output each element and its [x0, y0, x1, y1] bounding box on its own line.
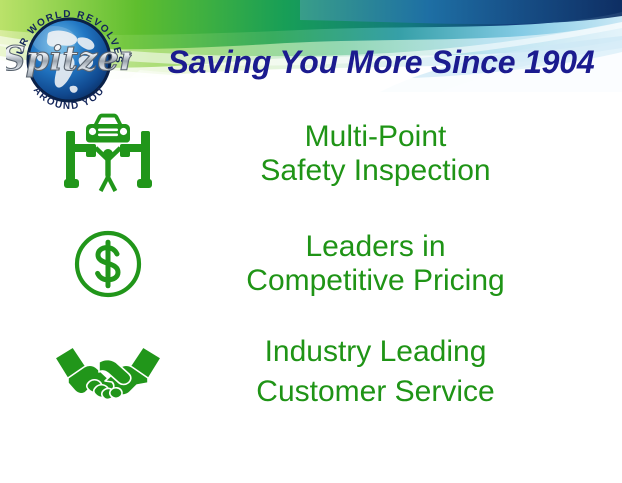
feature-line-2: Competitive Pricing [215, 264, 536, 298]
feature-text-safety-inspection: Multi-Point Safety Inspection [215, 120, 622, 188]
page-title: Saving You More Since 1904 [148, 40, 614, 84]
feature-line-1: Industry Leading [215, 332, 536, 372]
logo-wordmark: Spitzer [6, 39, 132, 79]
svg-text:Spitzer: Spitzer [6, 39, 132, 79]
spitzer-logo: OUR WORLD REVOLVES AROUND YOU Spitzer [6, 4, 132, 112]
dollar-circle-icon-wrapper [0, 229, 215, 299]
logo-graphic: OUR WORLD REVOLVES AROUND YOU Spitzer [6, 4, 132, 112]
slide-canvas: OUR WORLD REVOLVES AROUND YOU Spitzer Sa… [0, 0, 622, 483]
feature-text-competitive-pricing: Leaders in Competitive Pricing [215, 230, 622, 298]
dollar-circle-icon [71, 229, 145, 299]
car-lift-icon-wrapper [0, 113, 215, 195]
feature-line-2: Safety Inspection [215, 154, 536, 188]
feature-text-customer-service: Industry Leading Customer Service [215, 332, 622, 412]
feature-line-1: Leaders in [215, 230, 536, 264]
feature-line-2: Customer Service [215, 372, 536, 412]
handshake-icon [53, 342, 163, 402]
handshake-icon-wrapper [0, 342, 215, 402]
feature-row-competitive-pricing: Leaders in Competitive Pricing [0, 218, 622, 310]
feature-row-customer-service: Industry Leading Customer Service [0, 326, 622, 418]
car-lift-icon [64, 113, 152, 195]
feature-row-safety-inspection: Multi-Point Safety Inspection [0, 108, 622, 200]
feature-line-1: Multi-Point [215, 120, 536, 154]
